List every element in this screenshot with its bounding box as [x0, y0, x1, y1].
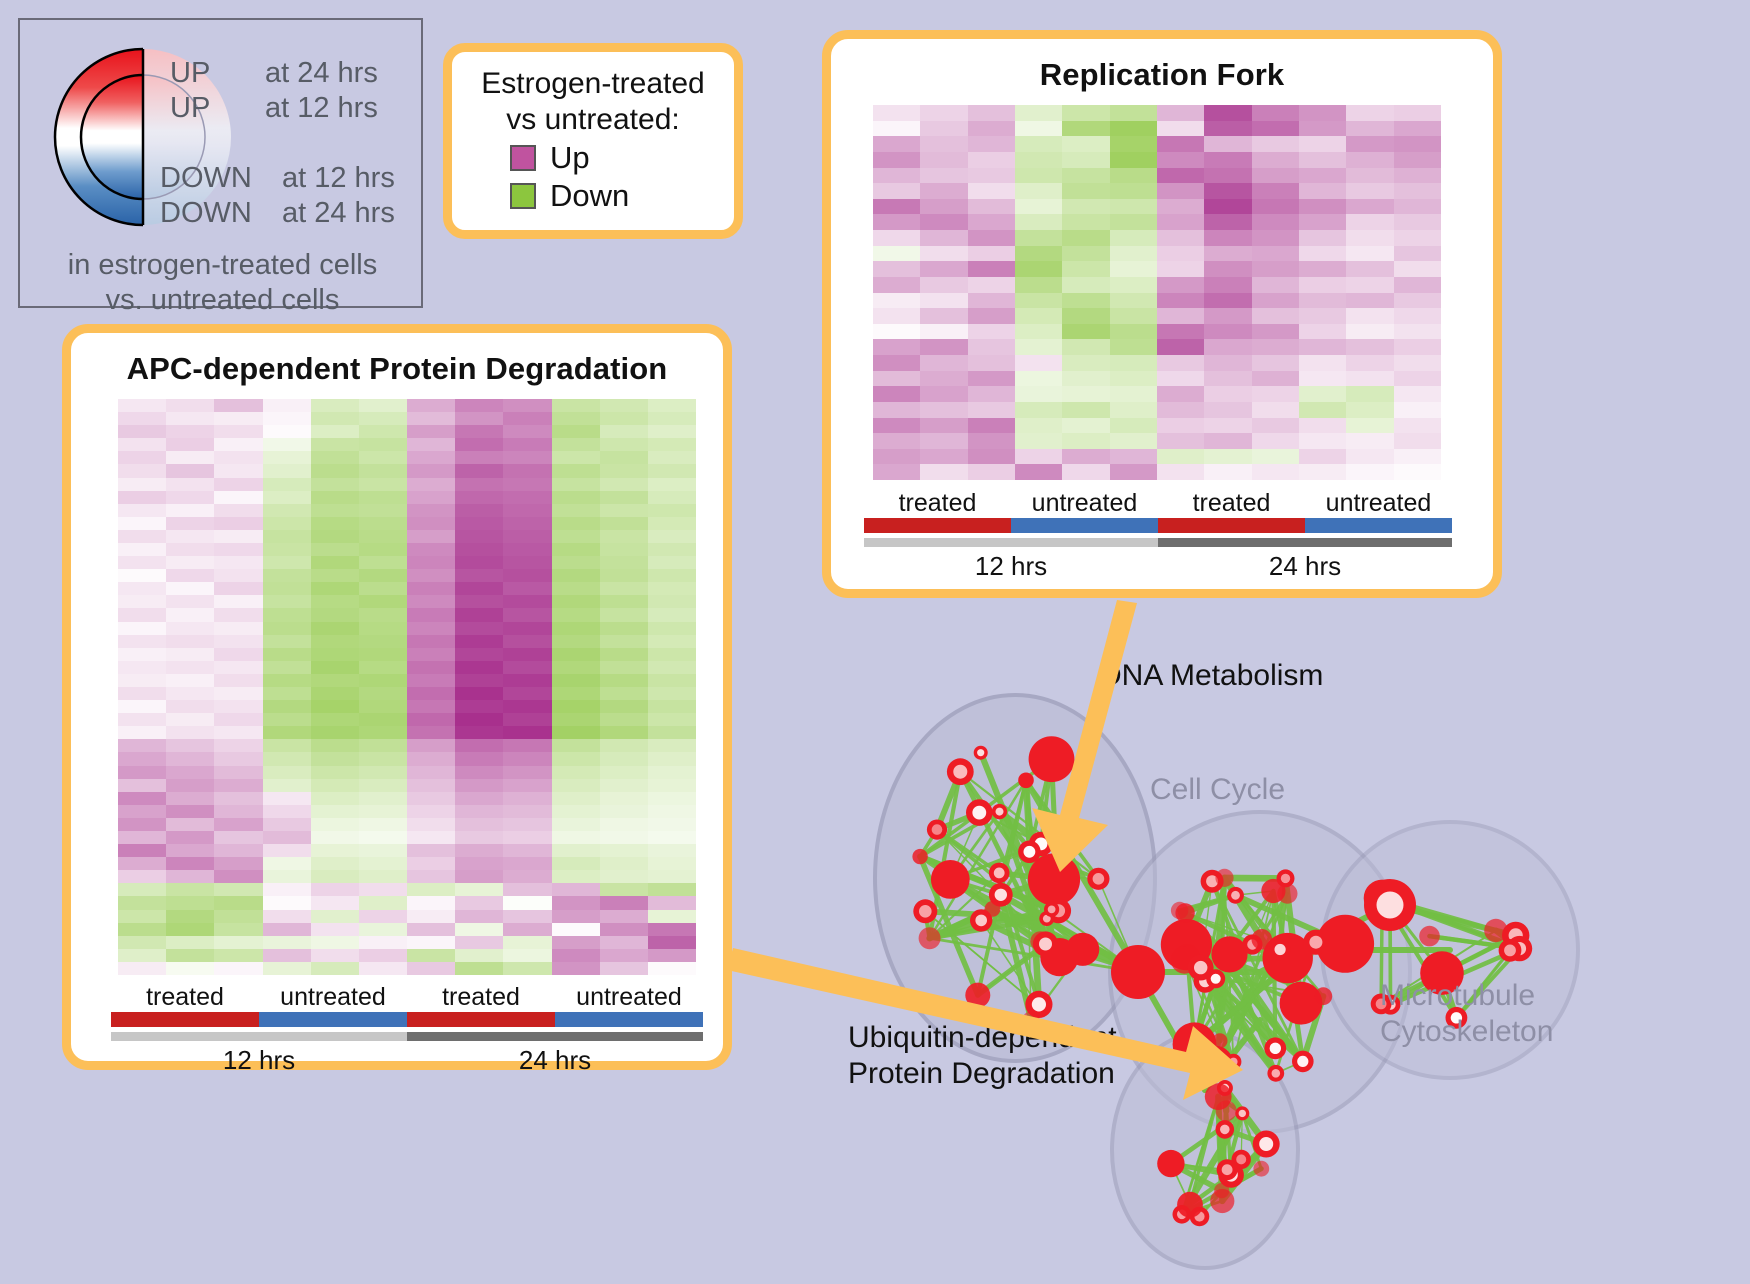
condition-colour-bar-apc — [111, 1012, 703, 1027]
legend-heading: Estrogen-treated vs untreated: — [452, 66, 734, 138]
colour-key-box: UP at 24 hrs UP at 12 hrs DOWN at 12 hrs… — [18, 18, 423, 308]
key-up-12-label: UP — [170, 93, 210, 123]
condition-colour-bar-replication-fork — [864, 518, 1452, 533]
key-down-24-time: at 24 hrs — [282, 198, 395, 228]
sample-label: treated — [407, 983, 555, 1012]
legend-swatch-up — [510, 145, 536, 171]
condition-segment — [555, 1012, 703, 1027]
time-colour-bar-apc — [111, 1032, 703, 1041]
key-up-24-label: UP — [170, 58, 210, 88]
sample-label: treated — [1158, 489, 1305, 518]
time-label: 24 hrs — [1158, 547, 1452, 582]
key-down-24-label: DOWN — [160, 198, 252, 228]
panel-apc-dependent-protein-degradation: APC-dependent Protein Degradation treate… — [62, 324, 732, 1070]
figure-canvas: UP at 24 hrs UP at 12 hrs DOWN at 12 hrs… — [0, 0, 1750, 1279]
cluster-label-dna-metabolism: DNA Metabolism — [1100, 658, 1323, 694]
legend-item-down: Down — [510, 178, 734, 214]
sample-group-labels-replication-fork: treateduntreatedtreateduntreated — [864, 489, 1452, 518]
key-caption-line-1: in estrogen-treated cells — [20, 250, 425, 280]
key-down-12-time: at 12 hrs — [282, 163, 395, 193]
time-point-labels-replication-fork: 12 hrs24 hrs — [864, 547, 1452, 582]
time-segment — [111, 1032, 407, 1041]
key-up-12-time: at 12 hrs — [265, 93, 378, 123]
panel-title-replication-fork: Replication Fork — [831, 57, 1493, 93]
legend-heading-line-1: Estrogen-treated — [452, 66, 734, 102]
legend-heading-line-2: vs untreated: — [452, 102, 734, 138]
condition-segment — [259, 1012, 407, 1027]
condition-segment — [1305, 518, 1452, 533]
time-point-labels-apc: 12 hrs24 hrs — [111, 1041, 703, 1076]
condition-segment — [1158, 518, 1305, 533]
sample-label: untreated — [259, 983, 407, 1012]
key-caption-line-2: vs. untreated cells — [20, 285, 425, 315]
condition-segment — [111, 1012, 259, 1027]
time-segment — [864, 538, 1158, 547]
heatmap-replication-fork — [873, 105, 1441, 480]
condition-segment — [864, 518, 1011, 533]
sample-label: untreated — [1305, 489, 1452, 518]
condition-segment — [1011, 518, 1158, 533]
time-label: 24 hrs — [407, 1041, 703, 1076]
cluster-label-ubiquitin-protein-degradation: Ubiquitin-dependent Protein Degradation — [848, 1020, 1117, 1092]
condition-segment — [407, 1012, 555, 1027]
cluster-label-cell-cycle: Cell Cycle — [1150, 772, 1285, 808]
time-label: 12 hrs — [864, 547, 1158, 582]
expression-legend-panel: Estrogen-treated vs untreated: Up Down — [443, 43, 743, 239]
panel-replication-fork: Replication Fork treateduntreatedtreated… — [822, 30, 1502, 598]
time-segment — [1158, 538, 1452, 547]
panel-title-apc: APC-dependent Protein Degradation — [71, 351, 723, 387]
network-svg — [790, 620, 1750, 1279]
legend-label-down: Down — [550, 178, 629, 214]
time-colour-bar-replication-fork — [864, 538, 1452, 547]
time-segment — [407, 1032, 703, 1041]
heatmap-apc-dependent-protein-degradation — [118, 399, 696, 975]
sample-label: untreated — [1011, 489, 1158, 518]
sample-label: treated — [864, 489, 1011, 518]
sample-group-labels-apc: treateduntreatedtreateduntreated — [111, 983, 703, 1012]
key-down-12-label: DOWN — [160, 163, 252, 193]
legend-swatch-down — [510, 183, 536, 209]
legend-label-up: Up — [550, 140, 590, 176]
sample-label: untreated — [555, 983, 703, 1012]
sample-label: treated — [111, 983, 259, 1012]
time-label: 12 hrs — [111, 1041, 407, 1076]
pathway-network-diagram: DNA Metabolism Cell Cycle Microtubule Cy… — [790, 620, 1750, 1279]
key-up-24-time: at 24 hrs — [265, 58, 378, 88]
cluster-label-microtubule-cytoskeleton: Microtubule Cytoskeleton — [1380, 978, 1553, 1050]
legend-item-up: Up — [510, 140, 734, 176]
